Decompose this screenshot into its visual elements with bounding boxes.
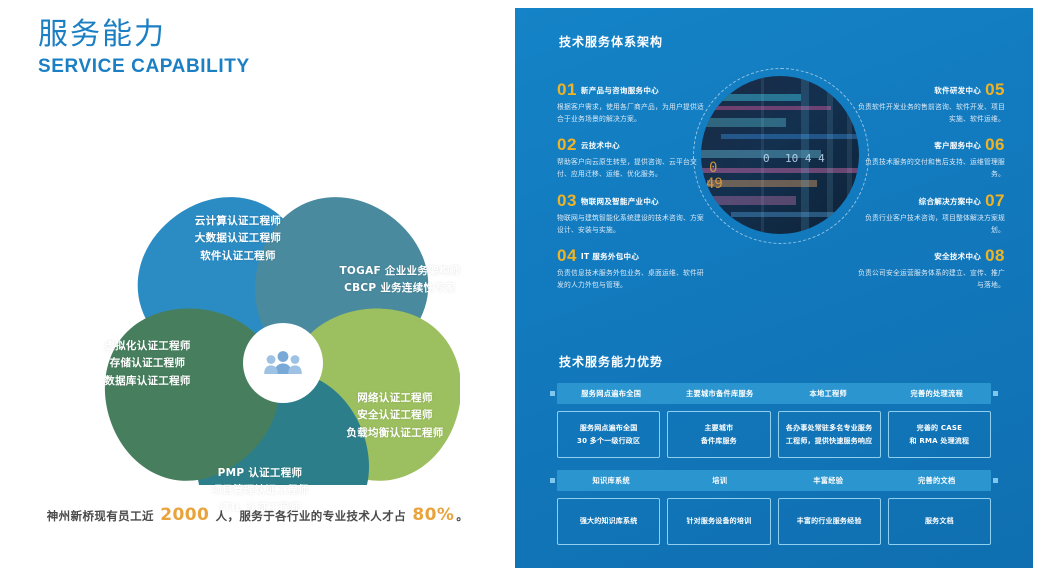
arch-item-01[interactable]: 01新产品与咨询服务中心 根据客户需求，使用各厂商产品，为用户提供适合于业务场景…	[557, 80, 705, 126]
arch-item-01-name: 新产品与咨询服务中心	[577, 85, 663, 96]
row2-header-0: 知识库系统	[557, 476, 666, 486]
arch-item-06-name: 客户服务中心	[930, 140, 985, 151]
arch-item-06[interactable]: 客户服务中心06 负责技术服务的交付和售后支持、运维管理服务。	[857, 135, 1005, 181]
row2-header-1: 培训	[666, 476, 775, 486]
advantages-row-1-cells: 服务网点遍布全国 30 多个一级行政区 主要城市 备件库服务 各办事处常驻多名专…	[557, 411, 991, 458]
row1-header-3: 完善的处理流程	[883, 389, 992, 399]
arch-item-03-name: 物联网及智能产业中心	[577, 196, 663, 207]
row1-cell-1[interactable]: 主要城市 备件库服务	[667, 411, 770, 458]
arch-item-02-name: 云技术中心	[577, 140, 624, 151]
petal-label-2: 网络认证工程师 安全认证工程师 负载均衡认证工程师	[315, 390, 475, 442]
petal-label-0: 云计算认证工程师 大数据认证工程师 软件认证工程师	[158, 213, 318, 265]
petal-label-1: TOGAF 企业业务架构师 CBCP 业务连续性专家	[315, 263, 485, 298]
advantages-row-2-headers: 知识库系统 培训 丰富经验 完善的文档	[557, 470, 991, 491]
arch-item-04-name: IT 服务外包中心	[577, 251, 643, 262]
arch-item-08-desc: 负责公司安全运营服务体系的建立、宣传、推广与落地。	[857, 268, 1005, 292]
architecture-section-title: 技术服务体系架构	[559, 33, 663, 50]
page-title-block: 服务能力 SERVICE CAPABILITY	[38, 18, 250, 78]
arch-item-02-number: 02	[557, 135, 577, 155]
people-group-icon	[246, 326, 320, 400]
employee-caption: 神州新桥现有员工近 2000 人，服务于各行业的专业技术人才占 80%。	[0, 505, 515, 525]
arch-item-07-desc: 负责行业客户技术咨询，项目整体解决方案规划。	[857, 213, 1005, 237]
svg-text:49: 49	[706, 176, 723, 192]
arch-item-04[interactable]: 04IT 服务外包中心 负责信息技术服务外包业务、桌面运维、软件研发的人力外包与…	[557, 246, 705, 292]
row2-tick-left	[550, 478, 555, 483]
page-title-cn: 服务能力	[38, 18, 250, 53]
arch-item-03-number: 03	[557, 191, 577, 211]
caption-mid: 人，服务于各行业的专业技术人才占	[211, 509, 410, 523]
svg-text:10 4 4: 10 4 4	[785, 152, 825, 165]
arch-item-04-number: 04	[557, 246, 577, 266]
arch-item-05[interactable]: 软件研发中心05 负责软件开发业务的售前咨询、软件开发、项目实施、软件运维。	[857, 80, 1005, 126]
petal-diagram: 云计算认证工程师 大数据认证工程师 软件认证工程师 TOGAF 企业业务架构师 …	[40, 95, 460, 485]
row1-tick-left	[550, 391, 555, 396]
row1-header-2: 本地工程师	[774, 389, 883, 399]
row2-tick-right	[993, 478, 998, 483]
row2-cell-2[interactable]: 丰富的行业服务经验	[778, 498, 881, 545]
advantages-row-2: 知识库系统 培训 丰富经验 完善的文档 强大的知识库系统 针对服务设备的培训 丰…	[557, 470, 991, 545]
row2-cell-3[interactable]: 服务文档	[888, 498, 991, 545]
arch-item-01-desc: 根据客户需求，使用各厂商产品，为用户提供适合于业务场景的解决方案。	[557, 102, 705, 126]
row2-header-2: 丰富经验	[774, 476, 883, 486]
row1-header-0: 服务网点遍布全国	[557, 389, 666, 399]
advantages-row-2-cells: 强大的知识库系统 针对服务设备的培训 丰富的行业服务经验 服务文档	[557, 498, 991, 545]
arch-item-05-name: 软件研发中心	[930, 85, 985, 96]
arch-item-02[interactable]: 02云技术中心 帮助客户向云原生转型，提供咨询、云平台交付、应用迁移、运维、优化…	[557, 135, 705, 181]
svg-text:0: 0	[763, 152, 770, 165]
left-panel: 服务能力 SERVICE CAPABILITY	[0, 0, 515, 576]
arch-item-07[interactable]: 综合解决方案中心07 负责行业客户技术咨询，项目整体解决方案规划。	[857, 191, 1005, 237]
arch-item-02-desc: 帮助客户向云原生转型，提供咨询、云平台交付、应用迁移、运维、优化服务。	[557, 157, 705, 181]
page-title-en: SERVICE CAPABILITY	[38, 56, 250, 78]
caption-pre: 神州新桥现有员工近	[47, 509, 159, 523]
advantages-table: 服务网点遍布全国 主要城市备件库服务 本地工程师 完善的处理流程 服务网点遍布全…	[557, 383, 991, 557]
row1-header-1: 主要城市备件库服务	[666, 389, 775, 399]
arch-item-06-desc: 负责技术服务的交付和售后支持、运维管理服务。	[857, 157, 1005, 181]
arch-item-03-desc: 物联网与建筑智能化系统建设的技术咨询、方案设计、安装与实施。	[557, 213, 705, 237]
svg-text:0: 0	[709, 160, 717, 176]
arch-item-04-desc: 负责信息技术服务外包业务、桌面运维、软件研发的人力外包与管理。	[557, 268, 705, 292]
advantages-section-title: 技术服务能力优势	[559, 353, 663, 370]
caption-number-percent: 80%	[410, 505, 456, 525]
right-panel: 技术服务体系架构	[515, 8, 1033, 568]
architecture-items-area: 049 010 4 4 01新产品与咨询服务中心 根据客户需求，使用各厂商产品，…	[515, 68, 1033, 318]
row1-cell-0[interactable]: 服务网点遍布全国 30 多个一级行政区	[557, 411, 660, 458]
arch-item-08-name: 安全技术中心	[930, 251, 985, 262]
arch-item-08-number: 08	[985, 246, 1005, 266]
row1-cell-3[interactable]: 完善的 CASE 和 RMA 处理流程	[888, 411, 991, 458]
advantages-row-1: 服务网点遍布全国 主要城市备件库服务 本地工程师 完善的处理流程 服务网点遍布全…	[557, 383, 991, 458]
arch-item-07-number: 07	[985, 191, 1005, 211]
row1-tick-right	[993, 391, 998, 396]
arch-item-01-number: 01	[557, 80, 577, 100]
datacenter-photo: 049 010 4 4	[701, 76, 859, 234]
row2-header-3: 完善的文档	[883, 476, 992, 486]
caption-number-employees: 2000	[158, 505, 211, 525]
arch-item-05-desc: 负责软件开发业务的售前咨询、软件开发、项目实施、软件运维。	[857, 102, 1005, 126]
arch-item-05-number: 05	[985, 80, 1005, 100]
arch-item-08[interactable]: 安全技术中心08 负责公司安全运营服务体系的建立、宣传、推广与落地。	[857, 246, 1005, 292]
caption-post: 。	[456, 509, 468, 523]
arch-item-07-name: 综合解决方案中心	[915, 196, 985, 207]
petal-label-4: 虚拟化认证工程师 存储认证工程师 数据库认证工程师	[65, 338, 230, 390]
arch-item-03[interactable]: 03物联网及智能产业中心 物联网与建筑智能化系统建设的技术咨询、方案设计、安装与…	[557, 191, 705, 237]
arch-item-06-number: 06	[985, 135, 1005, 155]
row2-cell-0[interactable]: 强大的知识库系统	[557, 498, 660, 545]
row1-cell-2[interactable]: 各办事处常驻多名专业服务 工程师，提供快速服务响应	[778, 411, 881, 458]
advantages-row-1-headers: 服务网点遍布全国 主要城市备件库服务 本地工程师 完善的处理流程	[557, 383, 991, 404]
row2-cell-1[interactable]: 针对服务设备的培训	[667, 498, 770, 545]
